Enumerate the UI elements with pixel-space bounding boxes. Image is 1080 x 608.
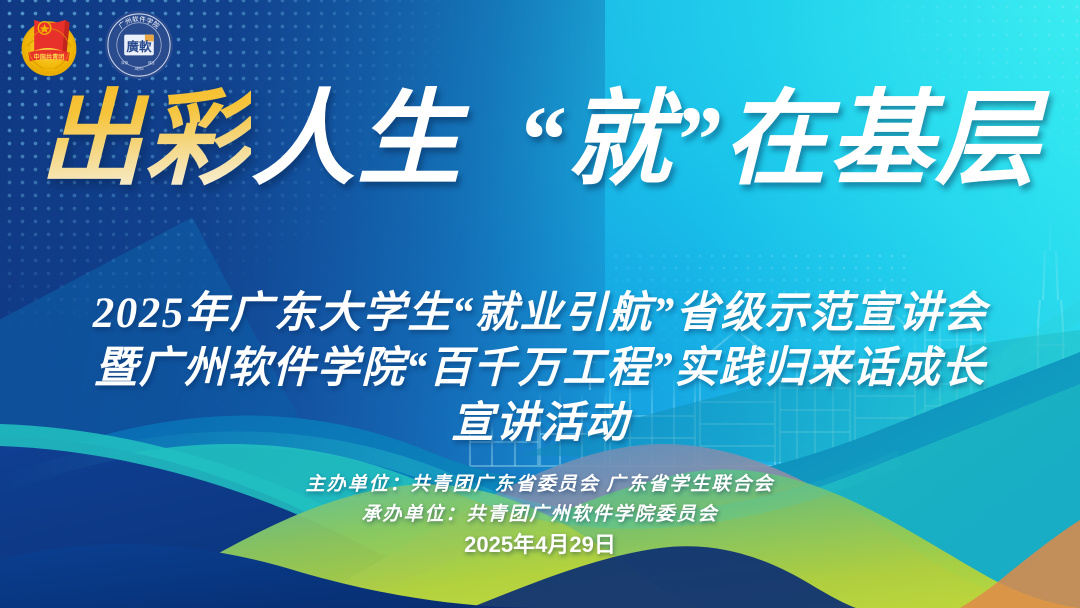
subtitle-line-3: 宣讲活动 (0, 396, 1080, 451)
poster-canvas: 中国共青团 广州软件学院 SEIG (0, 0, 1080, 608)
headline-quote-close: ” (673, 90, 723, 191)
host-line: 承办单位：共青团广州软件学院委员会 (0, 500, 1080, 530)
communist-youth-league-emblem: 中国共青团 (12, 8, 86, 82)
credits-block: 主办单位：共青团广东省委员会 广东省学生联合会 承办单位：共青团广州软件学院委员… (0, 470, 1080, 560)
headline-part-rensheng: 人生 (251, 86, 463, 195)
subtitle-line-1: 2025年广东大学生“就业引航”省级示范宣讲会 (0, 286, 1080, 341)
headline-calligraphy: 出彩人生“就”在基层 (0, 86, 1080, 195)
organizer-line: 主办单位：共青团广东省委员会 广东省学生联合会 (0, 470, 1080, 500)
event-date: 2025年4月29日 (0, 530, 1080, 560)
gsi-abbrev-text: SEIG (134, 66, 144, 72)
subtitle-block: 2025年广东大学生“就业引航”省级示范宣讲会 暨广州软件学院“百千万工程”实践… (0, 286, 1080, 451)
cyl-emblem-text: 中国共青团 (33, 53, 64, 61)
gsi-motto-right: 强技 (148, 60, 155, 65)
gsi-center-text: 廣軟 (126, 39, 152, 54)
logo-row: 中国共青团 广州软件学院 SEIG (12, 8, 176, 82)
gsi-motto-left: 厚德 (121, 60, 128, 65)
headline-part-jiu: 就 (567, 86, 673, 195)
headline-quote-open: “ (517, 90, 567, 191)
headline-part-zaijiceng: 在基层 (723, 86, 1041, 195)
guangzhou-software-institute-emblem: 广州软件学院 SEIG 廣軟 厚德 强技 (102, 8, 176, 82)
headline-part-chucai: 出彩 (39, 86, 251, 195)
subtitle-line-2: 暨广州软件学院“百千万工程”实践归来话成长 (0, 341, 1080, 396)
